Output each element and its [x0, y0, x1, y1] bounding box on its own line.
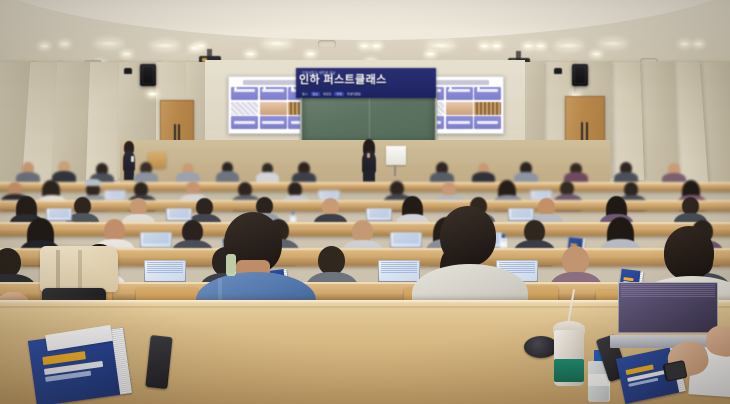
slide-card [260, 116, 287, 129]
banner-subrow: 일시 장소 대강당 주최 학생지원팀 [302, 92, 361, 96]
banner-chip-2: 주최 [334, 92, 344, 96]
slide-photo [260, 102, 287, 115]
slide-card [231, 87, 258, 100]
slide-photo [474, 102, 501, 115]
banner-sub-right: 학생지원팀 [347, 92, 361, 96]
tote-bag [40, 246, 118, 292]
slide-card [260, 87, 287, 100]
slide-photo [231, 102, 258, 115]
lecture-hall-photo: 인하대학교 재학생 대상 인하 퍼스트클래스 일시 장소 대강당 주최 학생지원… [0, 0, 730, 404]
banner-sub-mid: 대강당 [323, 92, 331, 96]
slide-title-bar [429, 80, 490, 85]
slide-card [446, 87, 473, 100]
slide-card [474, 87, 501, 100]
cup-lid[interactable] [524, 336, 558, 358]
slide-card [474, 116, 501, 129]
slide-card [231, 116, 258, 129]
slide-title-bar [243, 80, 304, 85]
banner-headline: 인하 퍼스트클래스 [299, 75, 387, 86]
wall-speaker-left [140, 64, 156, 86]
banner-chip-1: 장소 [311, 92, 321, 96]
earphone [226, 254, 236, 276]
iced-coffee-cup[interactable] [554, 318, 584, 386]
security-camera-left [124, 68, 132, 74]
slide-photo [446, 102, 473, 115]
laptop-foreground[interactable] [618, 282, 718, 348]
banner-sub-left: 일시 [302, 92, 308, 96]
slide-card [446, 116, 473, 129]
wall-speaker-right [572, 64, 588, 86]
cap [84, 179, 102, 186]
event-banner: 인하대학교 재학생 대상 인하 퍼스트클래스 일시 장소 대강당 주최 학생지원… [296, 68, 436, 98]
security-camera-right [554, 68, 562, 74]
